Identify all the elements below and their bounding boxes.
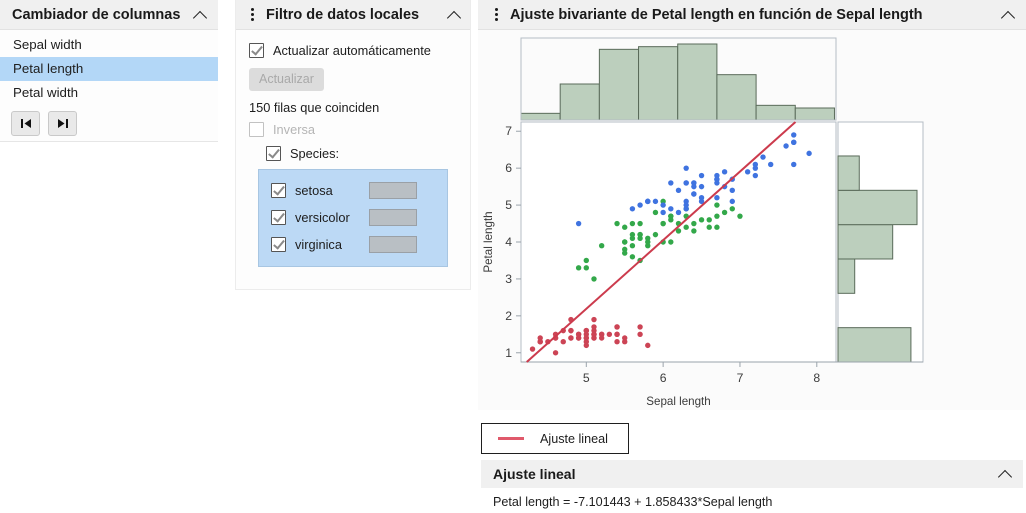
- top-histogram-bar: [678, 44, 717, 120]
- scatter-point-virginica: [668, 180, 673, 185]
- scatter-point-setosa: [591, 317, 596, 322]
- linear-fit-header[interactable]: Ajuste lineal: [481, 460, 1023, 488]
- y-tick-label: 5: [505, 198, 512, 212]
- y-axis-title: Petal length: [482, 211, 495, 272]
- scatter-point-versicolor: [737, 213, 742, 218]
- scatter-point-versicolor: [622, 225, 627, 230]
- top-histogram-bar: [756, 105, 795, 120]
- scatter-point-versicolor: [730, 206, 735, 211]
- scatter-point-virginica: [676, 210, 681, 215]
- setosa-checkbox[interactable]: [271, 183, 286, 198]
- scatter-point-setosa: [637, 332, 642, 337]
- scatter-point-virginica: [660, 202, 665, 207]
- scatter-point-versicolor: [653, 232, 658, 237]
- species-item-virginica[interactable]: virginica: [259, 231, 447, 258]
- scatter-point-versicolor: [614, 221, 619, 226]
- scatter-point-versicolor: [707, 217, 712, 222]
- scatter-point-versicolor: [630, 254, 635, 259]
- auto-update-row[interactable]: Actualizar automáticamente: [236, 38, 470, 62]
- scatter-point-virginica: [714, 177, 719, 182]
- inverse-label: Inversa: [273, 122, 315, 137]
- scatter-point-versicolor: [637, 221, 642, 226]
- scatter-point-versicolor: [630, 243, 635, 248]
- linear-fit-equation: Petal length = -7.101443 + 1.858433*Sepa…: [481, 488, 1023, 509]
- x-tick-label: 6: [660, 371, 667, 385]
- scatter-point-virginica: [683, 202, 688, 207]
- scatter-point-setosa: [645, 343, 650, 348]
- scatter-point-setosa: [637, 324, 642, 329]
- x-tick-label: 5: [583, 371, 590, 385]
- scatter-point-versicolor: [714, 213, 719, 218]
- bivariate-fit-panel: Ajuste bivariante de Petal length en fun…: [478, 0, 1026, 513]
- column-switcher-panel: Cambiador de columnas Sepal width Petal …: [0, 0, 218, 142]
- scatter-point-virginica: [791, 140, 796, 145]
- top-histogram-bar: [795, 108, 834, 120]
- filter-header[interactable]: Filtro de datos locales: [236, 0, 470, 30]
- scatter-point-virginica: [691, 191, 696, 196]
- right-histogram-bar: [838, 225, 893, 259]
- chart-legend[interactable]: Ajuste lineal: [481, 423, 629, 454]
- species-label: Species:: [290, 146, 339, 161]
- skip-to-end-icon: [56, 118, 70, 129]
- top-histogram-bar: [639, 47, 678, 120]
- scatter-point-virginica: [722, 169, 727, 174]
- scatter-point-versicolor: [691, 228, 696, 233]
- column-switcher-header[interactable]: Cambiador de columnas: [0, 0, 218, 30]
- y-tick-label: 6: [505, 161, 512, 175]
- scatter-point-versicolor: [630, 221, 635, 226]
- right-histogram-bar: [838, 259, 855, 293]
- species-listbox[interactable]: setosa versicolor virginica: [258, 169, 448, 267]
- scatter-point-setosa: [614, 324, 619, 329]
- scatter-point-setosa: [614, 332, 619, 337]
- y-tick-label: 4: [505, 235, 512, 249]
- x-tick-label: 8: [813, 371, 820, 385]
- scatter-point-versicolor: [714, 225, 719, 230]
- scatter-point-virginica: [730, 188, 735, 193]
- column-item-sepal-width[interactable]: Sepal width: [0, 33, 218, 57]
- scatter-point-virginica: [699, 173, 704, 178]
- scatter-point-virginica: [699, 195, 704, 200]
- scatter-point-virginica: [653, 199, 658, 204]
- scatter-point-versicolor: [683, 225, 688, 230]
- scatter-point-virginica: [714, 195, 719, 200]
- linear-fit-section: Ajuste lineal Petal length = -7.101443 +…: [481, 460, 1023, 509]
- scatter-point-setosa: [538, 339, 543, 344]
- right-histogram-bar: [838, 156, 859, 190]
- scatter-point-versicolor: [722, 210, 727, 215]
- scatter-point-virginica: [753, 173, 758, 178]
- update-button[interactable]: Actualizar: [249, 68, 324, 91]
- setosa-count-bar: [369, 182, 417, 199]
- virginica-label: virginica: [295, 237, 369, 252]
- scatter-point-setosa: [568, 335, 573, 340]
- y-tick-label: 3: [505, 272, 512, 286]
- scatter-point-setosa: [599, 332, 604, 337]
- scatter-point-virginica: [630, 206, 635, 211]
- setosa-label: setosa: [295, 183, 369, 198]
- first-column-button[interactable]: [11, 111, 40, 136]
- scatter-point-setosa: [530, 346, 535, 351]
- kebab-menu-icon[interactable]: [246, 8, 258, 21]
- linear-fit-legend-swatch: [498, 437, 524, 440]
- column-item-petal-width[interactable]: Petal width: [0, 81, 218, 105]
- scatter-point-versicolor: [584, 265, 589, 270]
- scatter-point-virginica: [699, 184, 704, 189]
- scatter-point-versicolor: [637, 236, 642, 241]
- right-histogram-bar: [838, 190, 917, 224]
- chevron-up-icon[interactable]: [1002, 8, 1016, 22]
- scatter-point-setosa: [614, 339, 619, 344]
- scatter-point-virginica: [745, 169, 750, 174]
- column-nav-buttons: [0, 105, 218, 136]
- x-axis-title: Sepal length: [646, 395, 710, 408]
- scatter-point-versicolor: [691, 221, 696, 226]
- scatter-point-setosa: [576, 335, 581, 340]
- local-data-filter-panel: Filtro de datos locales Actualizar autom…: [235, 0, 471, 290]
- y-tick-label: 1: [505, 346, 512, 360]
- scatter-point-versicolor: [630, 232, 635, 237]
- scatter-point-virginica: [753, 165, 758, 170]
- top-histogram-bar: [521, 113, 560, 120]
- scatter-point-setosa: [584, 335, 589, 340]
- filter-title: Filtro de datos locales: [266, 7, 419, 23]
- scatter-point-versicolor: [714, 202, 719, 207]
- scatter-point-virginica: [637, 202, 642, 207]
- y-tick-label: 7: [505, 124, 512, 138]
- skip-to-start-icon: [19, 118, 33, 129]
- linear-fit-legend-label: Ajuste lineal: [540, 432, 608, 446]
- scatter-point-versicolor: [584, 258, 589, 263]
- scatter-point-virginica: [760, 154, 765, 159]
- scatter-point-setosa: [607, 332, 612, 337]
- species-row[interactable]: Species:: [236, 141, 470, 165]
- scatter-point-virginica: [691, 184, 696, 189]
- scatter-point-virginica: [791, 132, 796, 137]
- scatter-point-versicolor: [699, 217, 704, 222]
- auto-update-label: Actualizar automáticamente: [273, 43, 431, 58]
- chart-header[interactable]: Ajuste bivariante de Petal length en fun…: [478, 0, 1026, 30]
- last-column-button[interactable]: [48, 111, 77, 136]
- chart-title: Ajuste bivariante de Petal length en fun…: [510, 7, 923, 23]
- right-histogram-bar: [838, 328, 911, 362]
- scatter-point-versicolor: [576, 265, 581, 270]
- scatter-point-versicolor: [645, 239, 650, 244]
- scatter-point-virginica: [806, 151, 811, 156]
- species-checkbox[interactable]: [266, 146, 281, 161]
- versicolor-checkbox[interactable]: [271, 210, 286, 225]
- inverse-row[interactable]: Inversa: [236, 117, 470, 141]
- scatter-point-virginica: [576, 221, 581, 226]
- auto-update-checkbox[interactable]: [249, 43, 264, 58]
- rows-matched-status: 150 filas que coinciden: [249, 100, 470, 115]
- scatter-point-versicolor: [653, 210, 658, 215]
- top-histogram-bar: [560, 84, 599, 120]
- scatter-point-virginica: [645, 199, 650, 204]
- x-tick-label: 7: [737, 371, 744, 385]
- scatter-point-versicolor: [599, 243, 604, 248]
- column-list: Sepal width Petal length Petal width: [0, 30, 218, 105]
- scatter-point-versicolor: [622, 250, 627, 255]
- scatter-point-versicolor: [660, 221, 665, 226]
- scatter-point-virginica: [683, 180, 688, 185]
- scatter-point-setosa: [561, 339, 566, 344]
- top-histogram-bar: [599, 49, 638, 120]
- scatter-point-virginica: [783, 143, 788, 148]
- scatter-point-setosa: [553, 350, 558, 355]
- scatter-point-versicolor: [591, 276, 596, 281]
- scatter-point-virginica: [660, 210, 665, 215]
- column-switcher-title: Cambiador de columnas: [12, 7, 180, 23]
- virginica-checkbox[interactable]: [271, 237, 286, 252]
- filter-body: Actualizar automáticamente Actualizar 15…: [236, 30, 470, 267]
- versicolor-label: versicolor: [295, 210, 369, 225]
- y-tick-label: 2: [505, 309, 512, 323]
- kebab-menu-icon[interactable]: [490, 8, 502, 21]
- scatter-point-virginica: [676, 188, 681, 193]
- scatter-point-setosa: [584, 328, 589, 333]
- inverse-checkbox[interactable]: [249, 122, 264, 137]
- versicolor-count-bar: [369, 209, 417, 226]
- chevron-up-icon[interactable]: [999, 467, 1013, 481]
- species-item-setosa[interactable]: setosa: [259, 177, 447, 204]
- scatter-point-virginica: [683, 165, 688, 170]
- scatter-point-setosa: [622, 339, 627, 344]
- column-item-petal-length[interactable]: Petal length: [0, 57, 218, 81]
- scatter-point-versicolor: [668, 217, 673, 222]
- top-histogram-bar: [717, 75, 756, 120]
- scatter-point-virginica: [768, 162, 773, 167]
- scatter-point-setosa: [591, 328, 596, 333]
- scatter-point-virginica: [668, 206, 673, 211]
- scatter-point-setosa: [568, 328, 573, 333]
- virginica-count-bar: [369, 236, 417, 253]
- scatter-point-versicolor: [707, 225, 712, 230]
- chevron-up-icon[interactable]: [194, 8, 208, 22]
- scatter-point-versicolor: [622, 239, 627, 244]
- scatter-point-virginica: [730, 199, 735, 204]
- linear-fit-title: Ajuste lineal: [493, 466, 575, 482]
- scatter-point-virginica: [791, 162, 796, 167]
- plot-area: 56781234567Sepal lengthPetal length: [478, 30, 1026, 410]
- species-item-versicolor[interactable]: versicolor: [259, 204, 447, 231]
- chevron-up-icon[interactable]: [448, 8, 462, 22]
- bivariate-scatter-svg[interactable]: 56781234567Sepal lengthPetal length: [478, 30, 1026, 410]
- scatter-point-versicolor: [668, 239, 673, 244]
